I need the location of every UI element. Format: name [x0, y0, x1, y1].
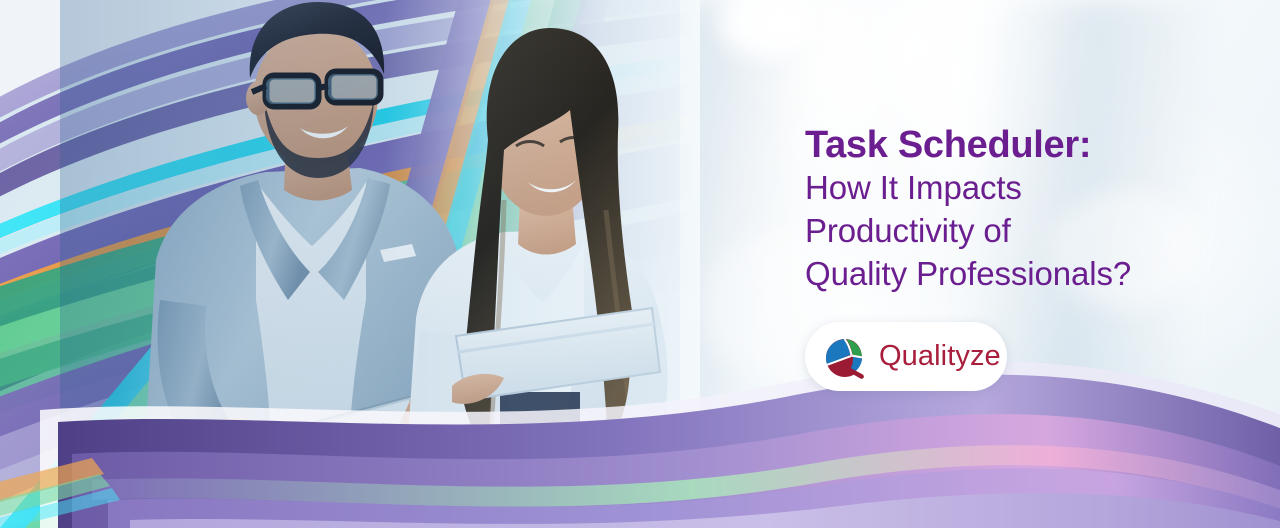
headline-block: Task Scheduler: How It Impacts Productiv…: [805, 124, 1225, 296]
headline-line-1: Task Scheduler:: [805, 124, 1225, 167]
brand-name: Qualityze: [879, 340, 1001, 373]
headline-line-2: How It Impacts: [805, 167, 1225, 210]
headline-line-4: Quality Professionals?: [805, 253, 1225, 296]
bottom-wave-artwork: [0, 288, 1280, 528]
bokeh-highlight: [838, 80, 872, 112]
bokeh-highlight: [885, 30, 925, 66]
promo-banner: Task Scheduler: How It Impacts Productiv…: [0, 0, 1280, 528]
qualityze-magnifier-logo-icon: [822, 334, 868, 380]
qualityze-logo-badge[interactable]: Qualityze: [805, 322, 1007, 391]
headline-line-3: Productivity of: [805, 210, 1225, 253]
bokeh-highlight: [756, 0, 816, 50]
